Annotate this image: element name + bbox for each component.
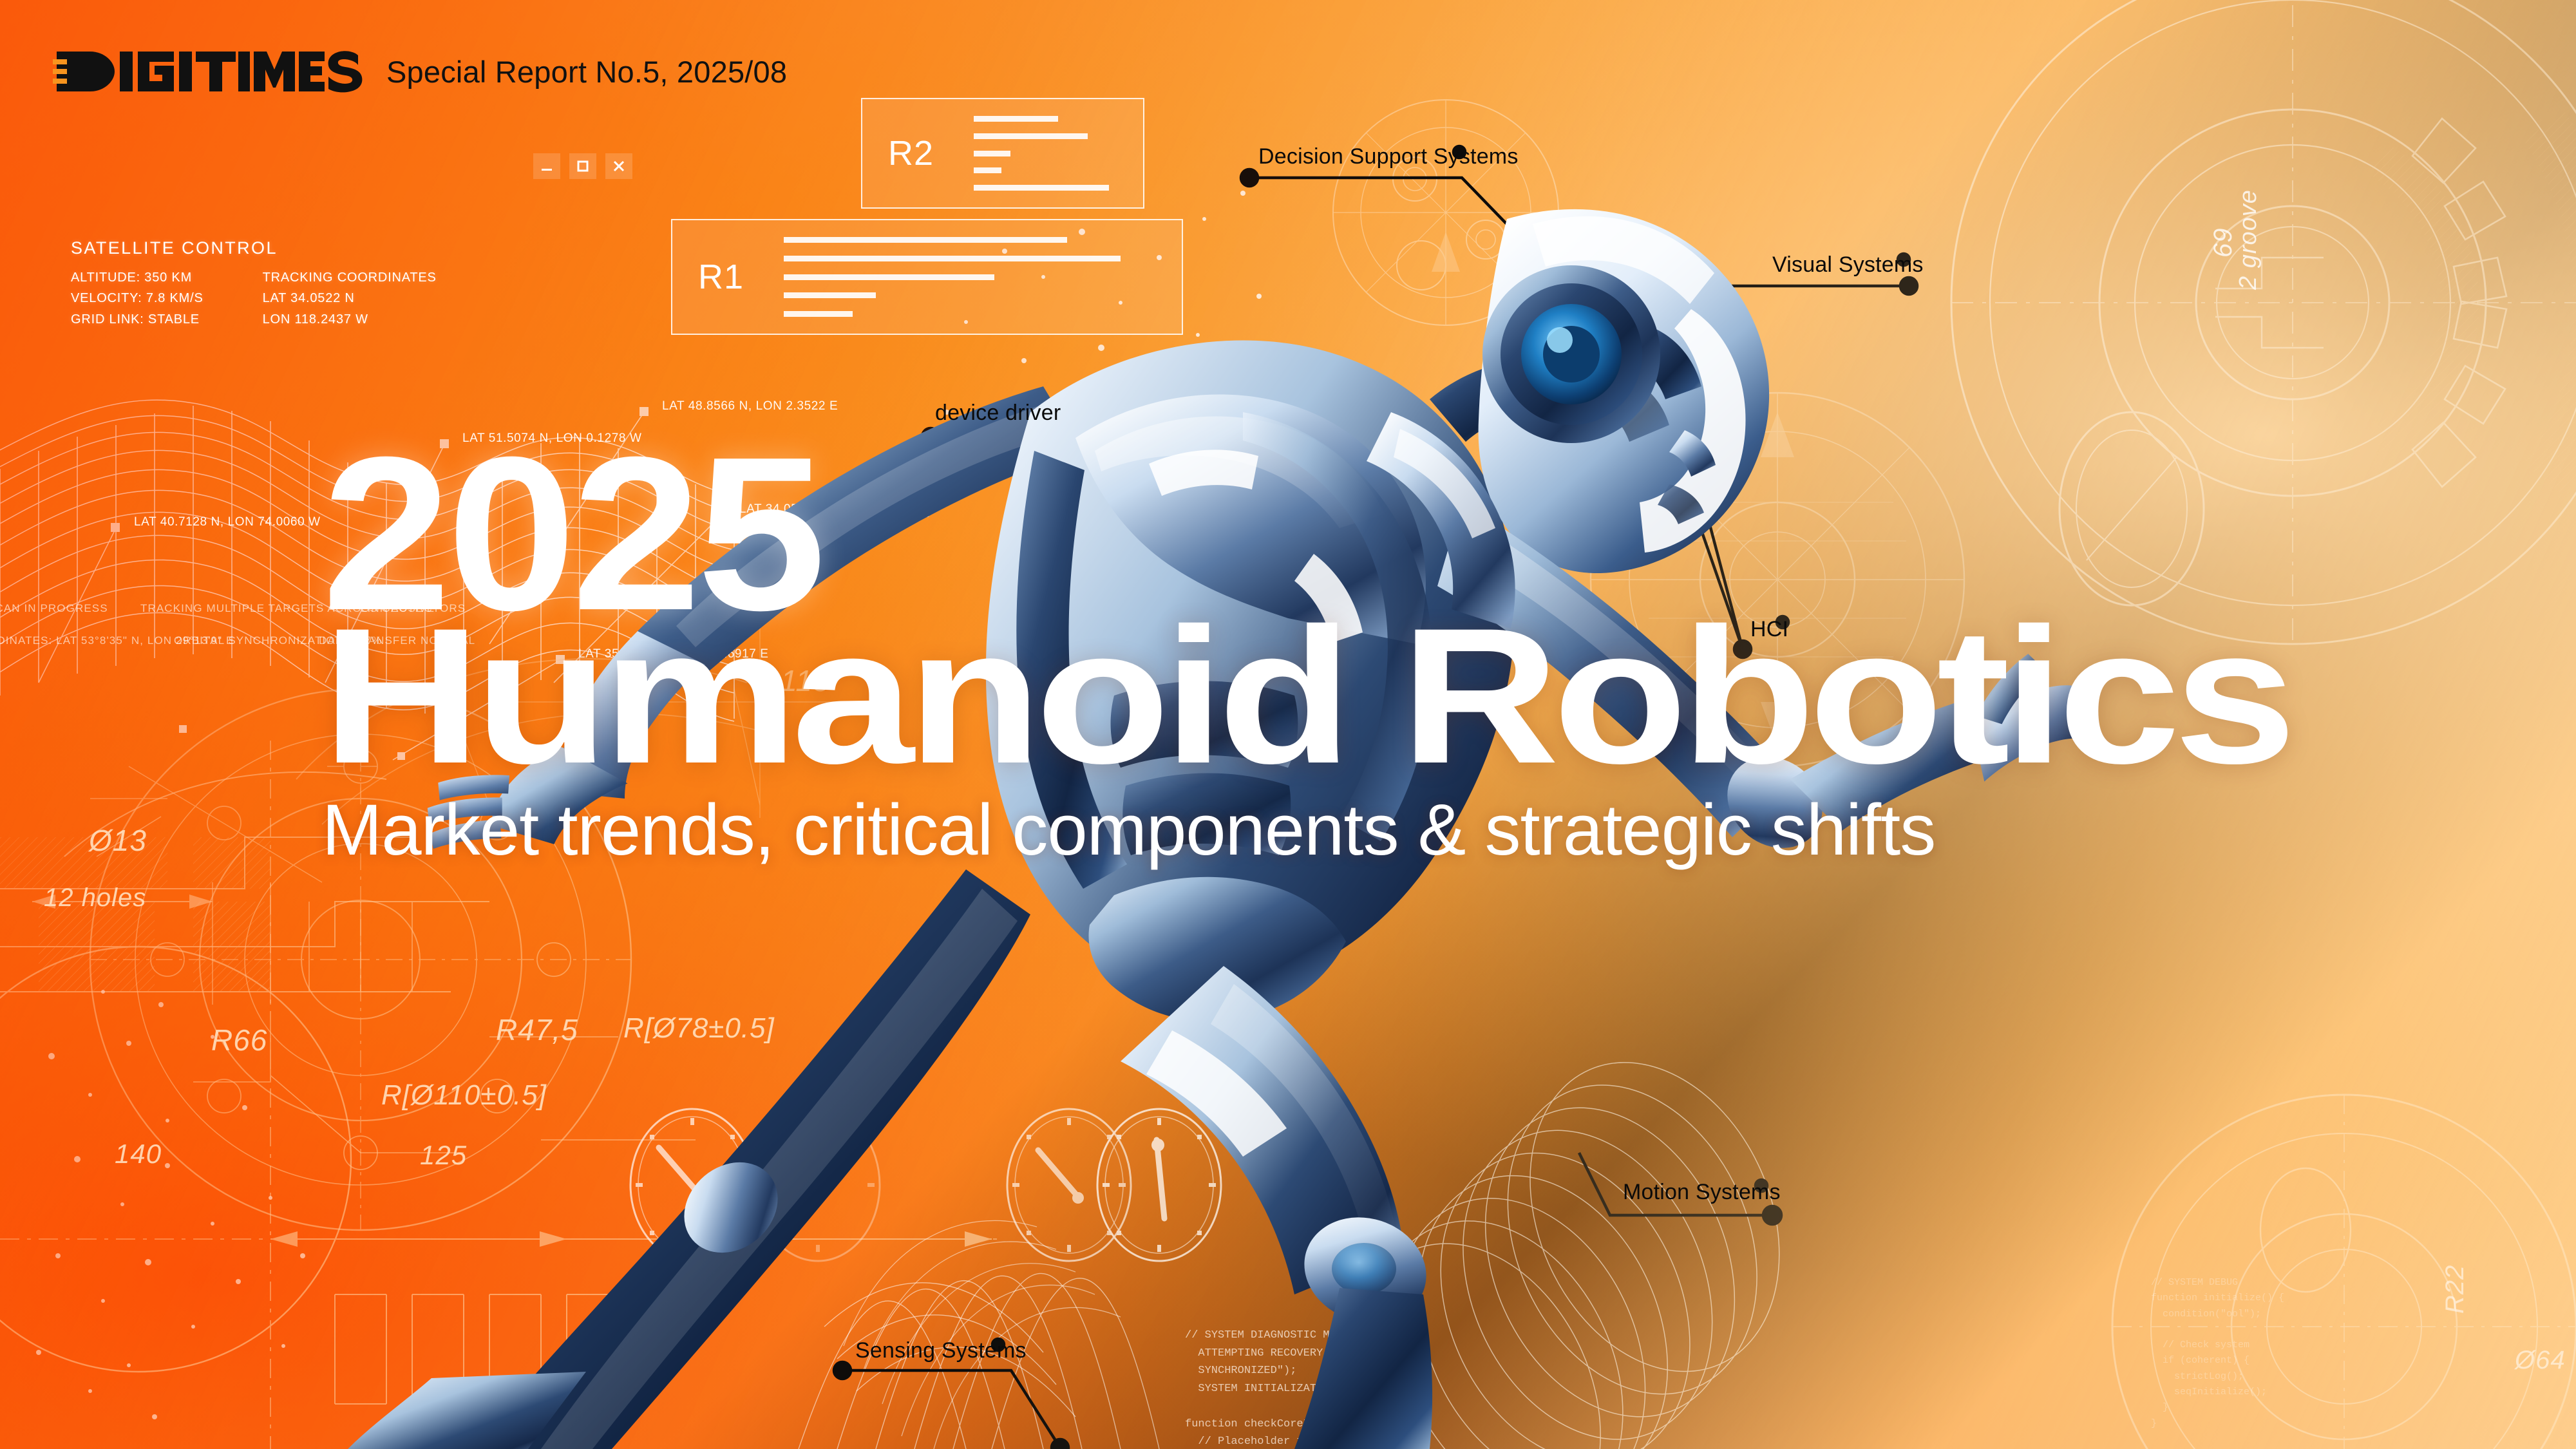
ribbon-text: SCAN IN PROGRESS xyxy=(0,602,108,615)
header-bar: Special Report No.5, 2025/08 xyxy=(52,50,787,93)
grid-link-readout: GRID LINK: STABLE xyxy=(71,309,204,330)
dimension-label: 12 holes xyxy=(44,884,146,913)
dimension-label: 69 xyxy=(2209,228,2238,258)
dimension-label: 2 groove xyxy=(2235,189,2262,290)
digitimes-logo[interactable] xyxy=(52,50,365,93)
dimension-label: R66 xyxy=(211,1023,267,1057)
dimension-label: Ø64 xyxy=(2515,1346,2566,1375)
dimension-label: R22 xyxy=(2441,1265,2470,1314)
velocity-readout: VELOCITY: 7.8 KM/S xyxy=(71,288,204,308)
callout-label: Motion Systems xyxy=(1623,1180,1781,1205)
hero-text-block: 2025 Humanoid Robotics Market trends, cr… xyxy=(322,444,2048,867)
dimension-label: Ø13 xyxy=(89,823,147,858)
callout-label: Sensing Systems xyxy=(855,1338,1027,1363)
page-title: Humanoid Robotics xyxy=(322,612,2290,779)
callout-label: device driver xyxy=(935,401,1061,426)
callout-label: HCI xyxy=(1750,617,1788,642)
altitude-readout: ALTITUDE: 350 KM xyxy=(71,267,204,288)
geo-label: LAT 40.7128 N, LON 74.0060 W xyxy=(134,515,321,529)
satellite-control-title: SATELLITE CONTROL xyxy=(71,238,278,258)
report-label: Special Report No.5, 2025/08 xyxy=(386,54,787,90)
satellite-column-left: ALTITUDE: 350 KM VELOCITY: 7.8 KM/S GRID… xyxy=(71,267,204,330)
callout-label: Visual Systems xyxy=(1772,252,1924,278)
page-subtitle: Market trends, critical components & str… xyxy=(322,793,2048,867)
poster-canvas: SATELLITE CONTROL ALTITUDE: 350 KM VELOC… xyxy=(0,0,2576,1449)
dimension-label: 140 xyxy=(115,1139,162,1170)
callout-label: Decision Support Systems xyxy=(1258,144,1519,169)
code-block-secondary: // SYSTEM DEBUG function initialize() { … xyxy=(2151,1275,2421,1432)
